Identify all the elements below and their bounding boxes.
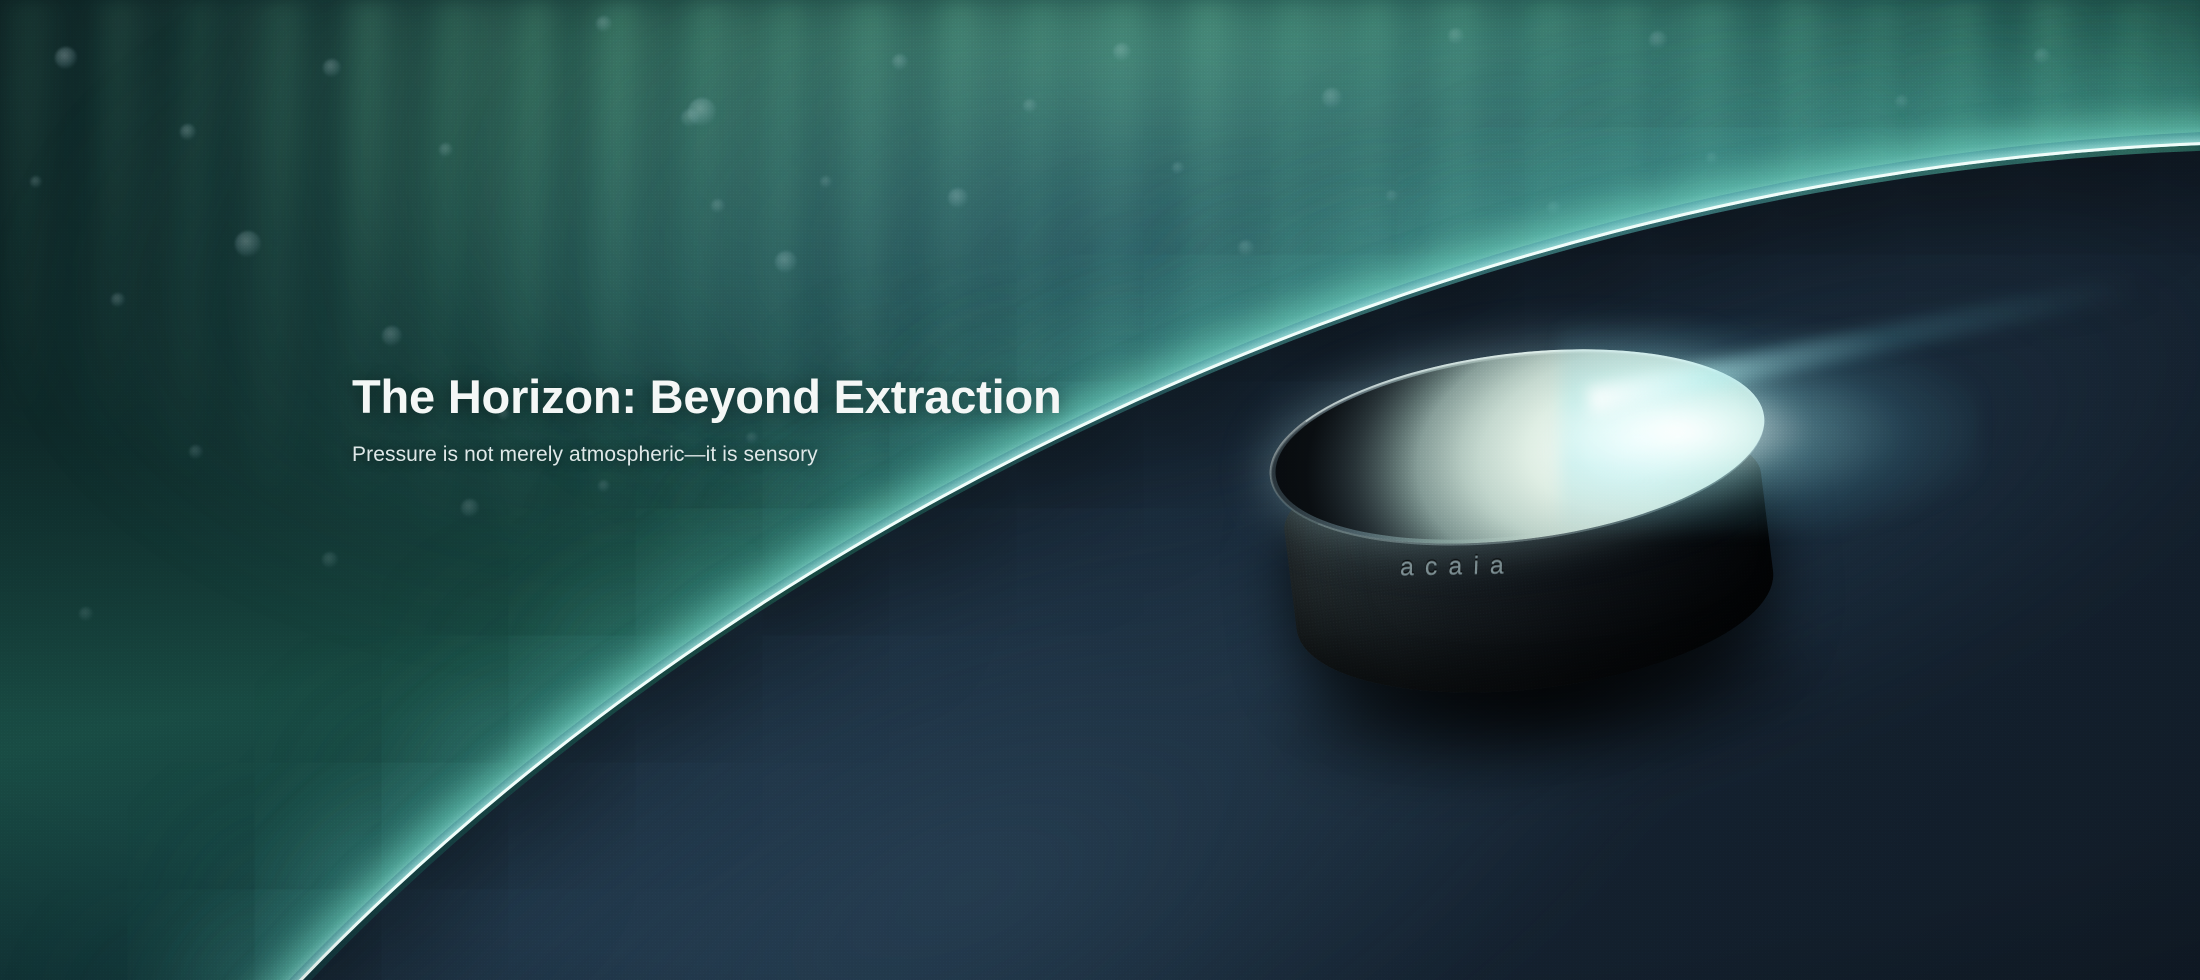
hero-banner: acaia The Horizon: Beyond Extraction Pre… <box>0 0 2200 980</box>
product-puck[interactable]: acaia <box>1258 322 1809 734</box>
hero-subtitle: Pressure is not merely atmospheric—it is… <box>352 443 1062 467</box>
acaia-brand-mark: acaia <box>1400 551 1516 582</box>
hero-title: The Horizon: Beyond Extraction <box>352 372 1062 423</box>
hero-copy-block: The Horizon: Beyond Extraction Pressure … <box>352 372 1062 467</box>
